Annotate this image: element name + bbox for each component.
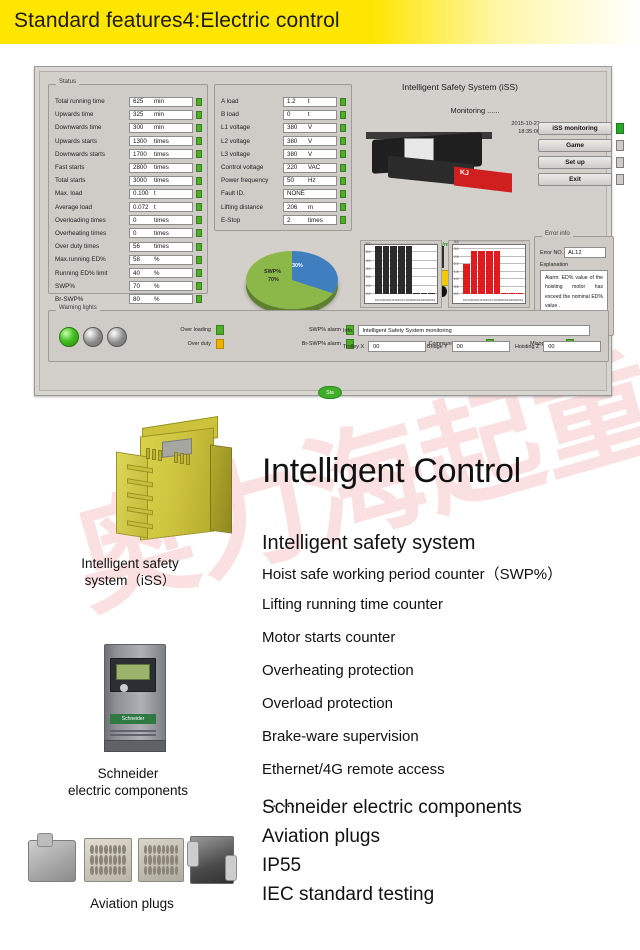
content-heading: Intelligent Control [262,452,521,491]
parameter-value: 380 [284,138,308,145]
parameter-row: B load0t [221,108,346,121]
error-no-value[interactable]: AL12 [564,247,606,258]
parameter-field[interactable]: 380V [283,149,337,159]
status-unit: min [154,124,164,131]
feature-bullet: Motor starts counter [262,629,395,646]
plug-pin-grid [90,845,126,875]
feature-bullet: Ethernet/4G remote access [262,761,445,778]
parameter-status-led [340,177,346,185]
status-unit: min [154,111,164,118]
warning-label: Br-SWP% alarm [302,341,341,347]
caption-iss-line2: system（iSS） [22,573,238,590]
info-value[interactable]: Intelligent Safety System monitoring [358,325,590,336]
caption-plugs-line1: Aviation plugs [26,896,238,913]
parameter-label: Lifting distance [221,204,283,211]
hmi-screenshot-panel: Status Total running time625minUpwards t… [34,66,612,396]
parameter-value: 380 [284,124,308,131]
x-tick-label: 10/17 [486,298,494,302]
parameter-row: L2 voltage380V [221,135,346,148]
date-text: 2015-10-21 [511,120,540,128]
bar-series [463,248,523,294]
status-field[interactable]: 3000times [129,176,193,186]
status-field[interactable]: 1700times [129,149,193,159]
axis-label: Trolley X [343,344,364,350]
status-value: 80 [130,296,154,303]
status-field[interactable]: 300min [129,123,193,133]
axis-hoisting-z: Hoisting Z00 [515,341,601,352]
error-no-row: Error NO. AL12 [540,247,613,258]
button-led [616,140,624,151]
status-unit: % [154,296,160,303]
axis-value[interactable]: 00 [368,341,426,352]
status-row: Over duty times56times [55,240,202,253]
status-unit: times [154,164,169,171]
parameter-rows: A load1.2tB load0tL1 voltage380VL2 volta… [221,95,346,227]
daily-energy-plot: 0.00.51.01.52.02.53.03.510/1410/1510/161… [452,244,526,304]
lamp-2 [83,327,103,347]
status-value: 0 [130,230,154,237]
plug-hood-shape [28,840,76,882]
parameter-unit: m [308,204,313,211]
status-label: Average load [55,204,129,211]
status-row: Overloading times0times [55,214,202,227]
parameter-value: 2 [284,217,308,224]
daily-loading-chart: 0.01.02.03.04.05.06.010/1410/1510/1610/1… [360,240,442,308]
status-status-led [196,269,202,277]
parameter-field[interactable]: 0t [283,110,337,120]
status-unit: min [154,98,164,105]
daily-energy-chart: 0.00.51.01.52.02.53.03.510/1410/1510/161… [448,240,530,308]
status-value: 325 [130,111,154,118]
hoist-nameplate: KJ [454,166,512,192]
y-tick-label: 6.0 [366,242,370,246]
caption-schneider: Schneider electric components [18,766,238,800]
hmi-inner-frame: Status Total running time625minUpwards t… [39,71,607,391]
parameter-label: L1 voltage [221,124,283,131]
warning-label: SWP% alarm [309,327,341,333]
header-banner: Standard features4:Electric control [0,0,640,44]
status-row: Max. load0.100t [55,187,202,200]
axis-trolley-x: Trolley X00 [343,341,426,352]
parameter-status-led [340,124,346,132]
parameter-label: A load [221,98,283,105]
bar [486,251,493,294]
y-tick-label: 1.0 [366,284,370,288]
status-field[interactable]: 0.072t [129,202,193,212]
x-tick-label: 10/19 [501,298,509,302]
status-row: Fast starts2800times [55,161,202,174]
status-label: Downwards starts [55,151,129,158]
parameter-label: Power frequency [221,177,283,184]
status-status-led [196,137,202,145]
status-field[interactable]: 2800times [129,163,193,173]
status-status-led [196,295,202,303]
parameter-status-led [340,150,346,158]
iss-terminal [180,453,184,464]
plug-insert-male [84,838,132,882]
gridline [453,241,525,242]
parameter-row: L1 voltage380V [221,121,346,134]
x-tick-labels: 10/1410/1510/1610/1710/1810/1910/2010/21 [463,298,523,302]
status-row: Overheating times0times [55,227,202,240]
vfd-lcd-shape [116,664,150,680]
caption-iss: Intelligent safety system（iSS） [22,556,238,590]
status-status-led [196,150,202,158]
parameter-row: L3 voltage380V [221,148,346,161]
lamp-3 [107,327,127,347]
warning-item: SWP% alarm [269,325,354,335]
status-status-led [196,124,202,132]
button-led [616,174,624,185]
status-label: Max. load [55,190,129,197]
status-value: 0.072 [130,204,154,211]
status-label: Overheating times [55,230,129,237]
status-group-legend: Status [56,79,79,85]
hmi-button-iss-monitoring[interactable]: iSS monitoring [538,122,612,135]
y-tick-label: 4.0 [366,259,370,263]
warning-led [216,339,224,349]
parameter-row: Fault ID.NONE [221,187,346,200]
y-tick-label: 1.5 [454,270,458,274]
hoist-brand-label: KJ [460,169,469,177]
x-tick-label: 10/16 [478,298,486,302]
status-label: Downwards time [55,124,129,131]
parameter-row: Control voltage220VAC [221,161,346,174]
parameter-value: 50 [284,177,308,184]
parameter-field[interactable]: 380V [283,136,337,146]
parameter-unit: V [308,138,312,145]
x-tick-label: 10/18 [405,298,413,302]
status-group: Status Total running time625minUpwards t… [48,84,208,294]
plug-socket-grid [144,845,178,875]
error-info-legend: Error info [542,231,573,237]
bar [406,246,413,294]
parameter-value: NONE [284,190,308,197]
parameter-row: Lifting distance206m [221,201,346,214]
error-no-label: Error NO. [540,250,564,256]
status-value: 625 [130,98,154,105]
y-tick-label: 3.0 [366,267,370,271]
status-unit: % [154,283,160,290]
axis-bridge-y: Bridge Y00 [427,341,510,352]
status-label: Total running time [55,98,129,105]
parameter-status-led [340,216,346,224]
bar [494,251,501,294]
x-tick-label: 10/14 [375,298,383,302]
status-status-led [196,98,202,106]
status-field[interactable]: 58% [129,255,193,265]
y-tick-label: 0.5 [454,285,458,289]
hmi-title: Intelligent Safety System (iSS) [370,82,550,92]
axis-label: Bridge Y [427,344,448,350]
x-tick-label: 10/19 [413,298,421,302]
y-tick-label: 3.5 [454,240,458,244]
parameter-label: L3 voltage [221,151,283,158]
x-tick-label: 10/21 [428,298,436,302]
x-tick-label: 10/15 [471,298,479,302]
parameter-label: B load [221,111,283,118]
feature-bullet: Lifting running time counter [262,596,443,613]
status-unit: t [154,204,156,211]
status-label: Upwards starts [55,138,129,145]
bar [428,293,435,294]
iss-module-image [112,418,252,556]
bar [516,293,523,294]
parameter-unit: V [308,151,312,158]
bar-series [375,248,435,294]
vfd-knob-shape [120,684,128,692]
iss-side-shape [210,444,232,533]
parameter-status-led [340,98,346,106]
status-field[interactable]: 0times [129,215,193,225]
status-unit: times [154,138,169,145]
feature-footer: Aviation plugs [262,826,380,848]
feature-footer: IEC standard testing [262,884,434,906]
axis-value[interactable]: 00 [543,341,601,352]
status-row: SWP%70% [55,280,202,293]
caption-iss-line1: Intelligent safety [22,556,238,573]
warning-led [216,325,224,335]
status-field[interactable]: 1300times [129,136,193,146]
pie-shape [246,251,338,309]
parameter-unit: t [308,111,310,118]
status-rows: Total running time625minUpwards time325m… [55,95,202,306]
status-unit: % [154,256,160,263]
bar [501,293,508,294]
parameter-status-led [340,203,346,211]
status-field[interactable]: 0.100t [129,189,193,199]
iss-terminal [146,448,150,459]
status-row: Running ED% limit40% [55,266,202,279]
x-tick-label: 10/20 [508,298,516,302]
x-tick-label: 10/18 [493,298,501,302]
iss-terminal-block-shape [116,451,148,538]
status-status-led [196,216,202,224]
x-tick-label: 10/16 [390,298,398,302]
section-title-iss: Intelligent safety system [262,532,475,555]
status-row: Max.running ED%58% [55,253,202,266]
feature-bullet: Hoist safe working period counter（SWP%） [262,563,562,584]
parameter-row: Power frequency50Hz [221,174,346,187]
parameter-label: Control voltage [221,164,283,171]
status-value: 300 [130,124,154,131]
parameter-value: 0 [284,111,308,118]
parameter-label: E-Stop [221,217,283,224]
status-value: 1700 [130,151,154,158]
page-title: Standard features4:Electric control [14,9,340,33]
warning-label: Over duty [188,341,211,347]
status-status-led [196,282,202,290]
parameter-unit: VAC [308,164,320,171]
axis-label: Hoisting Z [515,344,539,350]
status-value: 1300 [130,138,154,145]
feature-bullet: Overload protection [262,695,393,712]
parameter-status-led [340,111,346,119]
status-field[interactable]: 70% [129,281,193,291]
parameter-field[interactable]: 1.2t [283,97,337,107]
parameter-field[interactable]: 220VAC [283,163,337,173]
parameter-field[interactable]: 380V [283,123,337,133]
bar [509,293,516,294]
y-tick-label: 3.0 [454,247,458,251]
status-value: 0.100 [130,190,154,197]
status-value: 40 [130,270,154,277]
info-row: Info. Intelligent Safety System monitori… [343,325,590,336]
aviation-plugs-image [26,828,238,896]
bar [478,251,485,294]
status-row: Downwards starts1700times [55,148,202,161]
status-value: 0 [130,217,154,224]
caption-schneider-line1: Schneider [18,766,238,783]
parameter-field[interactable]: NONE [283,189,337,199]
x-tick-label: 10/15 [383,298,391,302]
bar [471,251,478,294]
status-status-led [196,164,202,172]
status-label: Running ED% limit [55,270,129,277]
status-badge: Sta [318,386,342,399]
warning-label: Over loading [180,327,211,333]
iss-terminal [174,452,178,463]
bar [375,246,382,294]
status-label: Fast starts [55,164,129,171]
parameter-unit: V [308,124,312,131]
status-row: Downwards time300min [55,121,202,134]
y-tick-label: 2.5 [454,255,458,259]
arrow-up [442,246,444,268]
status-value: 70 [130,283,154,290]
status-unit: times [154,217,169,224]
bar [463,264,470,294]
hmi-button-set-up[interactable]: Set up [538,156,612,169]
bar [413,293,420,294]
y-tick-label: 2.0 [454,262,458,266]
parameter-status-led [340,190,346,198]
plug-clip [187,841,199,867]
plug-clip [225,855,237,881]
vfd-base-shape [104,740,166,752]
parameter-value: 380 [284,151,308,158]
parameters-group: A load1.2tB load0tL1 voltage380VL2 volta… [214,84,352,231]
iss-terminal [186,454,190,465]
schneider-logo: Schneider [110,714,156,724]
monitoring-status: Monitoring ...... [400,106,550,115]
x-tick-label: 10/14 [463,298,471,302]
pie-label-swp: SWP% [264,269,281,275]
parameter-field[interactable]: 50Hz [283,176,337,186]
axis-value[interactable]: 00 [452,341,510,352]
daily-loading-plot: 0.01.02.03.04.05.06.010/1410/1510/1610/1… [364,244,438,304]
hmi-button-exit[interactable]: Exit [538,173,612,186]
status-label: Overloading times [55,217,129,224]
status-label: Over duty times [55,243,129,250]
status-unit: times [154,151,169,158]
status-field[interactable]: 40% [129,268,193,278]
feature-footer: Schneider electric components [262,797,522,819]
status-status-led [196,111,202,119]
status-unit: times [154,243,169,250]
status-unit: times [154,230,169,237]
parameter-field[interactable]: 206m [283,202,337,212]
vfd-vent [110,730,156,732]
warning-item: Over loading [145,325,224,335]
status-label: SWP% [55,283,129,290]
hmi-button-game[interactable]: Game [538,139,612,152]
status-value: 56 [130,243,154,250]
parameter-unit: t [308,98,310,105]
plug-insert-female [138,838,184,882]
bar [383,246,390,294]
status-unit: % [154,270,160,277]
vfd-vent [110,734,156,736]
status-label: Max.running ED% [55,256,129,263]
y-tick-label: 5.0 [366,250,370,254]
button-led [616,123,624,134]
parameter-field[interactable]: 2times [283,215,337,225]
info-label: Info. [343,328,354,334]
parameter-label: L2 voltage [221,138,283,145]
status-field[interactable]: 625min [129,97,193,107]
status-field[interactable]: 0times [129,228,193,238]
status-value: 3000 [130,177,154,184]
parameter-row: E-Stop2times [221,214,346,227]
y-tick-label: 1.0 [454,277,458,281]
y-tick-label: 2.0 [366,275,370,279]
feature-bullet: Brake-ware supervision [262,728,419,745]
status-unit: times [154,177,169,184]
bar [398,246,405,294]
parameter-value: 220 [284,164,308,171]
warning-lights-group: Warning lights Over loadingOver dutySWP%… [48,310,609,362]
status-row: Total starts3000times [55,174,202,187]
parameter-row: A load1.2t [221,95,346,108]
status-label: Total starts [55,177,129,184]
status-row: Total running time625min [55,95,202,108]
gridline [365,243,437,244]
status-unit: t [154,190,156,197]
y-tick-label: 0.0 [366,292,370,296]
status-status-led [196,229,202,237]
lamp-1 [59,327,79,347]
warning-lights-legend: Warning lights [56,305,100,311]
status-field[interactable]: 325min [129,110,193,120]
status-label: Br-SWP% [55,296,129,303]
status-value: 2800 [130,164,154,171]
bar [421,293,428,294]
parameter-label: Fault ID. [221,190,283,197]
plug-neck-shape [37,833,53,847]
x-tick-label: 10/20 [420,298,428,302]
hoist-photo: KJ [358,130,536,240]
status-row: Average load0.072t [55,201,202,214]
x-tick-labels: 10/1410/1510/1610/1710/1810/1910/2010/21 [375,298,435,302]
error-explanation-label: Explanation [540,262,613,268]
feature-bullet: Overheating protection [262,662,414,679]
status-label: Upwards time [55,111,129,118]
status-field[interactable]: 80% [129,294,193,304]
x-tick-label: 10/17 [398,298,406,302]
parameter-status-led [340,164,346,172]
iss-terminal [158,450,162,461]
status-field[interactable]: 56times [129,242,193,252]
parameter-unit: Hz [308,177,316,184]
pie-value-other: 30% [292,263,303,269]
status-status-led [196,203,202,211]
status-status-led [196,243,202,251]
status-status-led [196,256,202,264]
hmi-button-column: iSS monitoringGameSet upExit [538,122,612,190]
feature-footer: IP55 [262,855,301,877]
iss-terminal [152,449,156,460]
